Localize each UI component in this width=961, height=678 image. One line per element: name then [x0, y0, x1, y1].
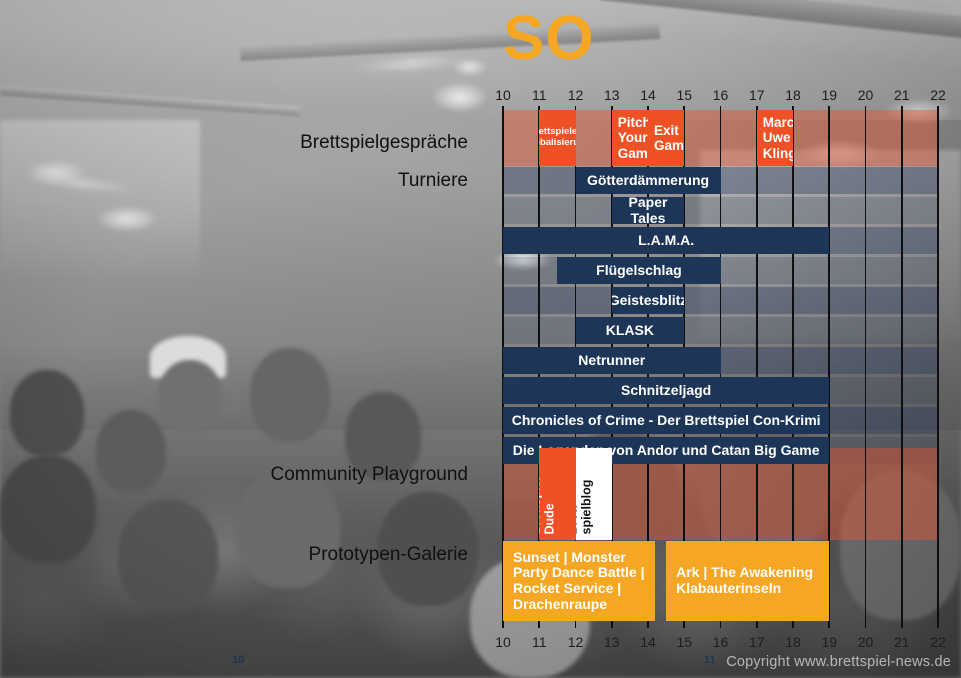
axis-tick-top: 12	[568, 87, 584, 103]
axis-tick-top: 13	[604, 87, 620, 103]
event-brett-spielblog[interactable]: Brett-spielblog	[576, 448, 612, 540]
row-label-community: Community Playground	[271, 464, 468, 486]
bar-label: KLASK	[600, 323, 660, 339]
bar-label: Brett-spielblog	[576, 479, 594, 534]
event-pitch-your-game[interactable]: Pitch Your Game	[612, 110, 648, 166]
bar-label: Paper Tales	[612, 197, 685, 224]
row-label-talks: Brettspielgespräche	[300, 132, 468, 154]
bar-label: Chronicles of Crime - Der Brettspiel Con…	[506, 413, 827, 429]
axis-tick-top: 19	[821, 87, 837, 103]
axis-tick-bottom: 14	[640, 634, 656, 650]
gridline-hour	[865, 106, 867, 628]
axis-tick-top: 15	[676, 87, 692, 103]
event-exit-games[interactable]: Exit Games	[648, 110, 684, 166]
axis-tick-bottom: 21	[894, 634, 910, 650]
gridline-hour	[901, 106, 903, 628]
event-l-a-m-a[interactable]: L.A.M.A.	[503, 227, 829, 254]
bar-label: Ark | The Awakening Klabauterinseln	[666, 565, 829, 596]
event-klask[interactable]: KLASK	[576, 317, 685, 344]
bar-label: Exit Games	[648, 123, 684, 153]
axis-tick-bottom: 22	[930, 634, 946, 650]
axis-tick-bottom: 10	[495, 634, 511, 650]
bar-label: Pitch Your Game	[612, 115, 648, 160]
row-label-prototypes: Prototypen-Galerie	[309, 544, 468, 566]
axis-tick-bottom: 12	[568, 634, 584, 650]
axis-tick-bottom: 13	[604, 634, 620, 650]
copyright-notice: Copyright www.brettspiel-news.de	[726, 654, 951, 670]
event-brettspiele-globalisierung[interactable]: Brettspiele & Globalisierung	[539, 110, 575, 166]
page-number-right: 11	[704, 654, 716, 666]
schedule-gantt-chart: 1010111112121313141415151616171718181919…	[0, 0, 961, 678]
bar-label: Götterdämmerung	[581, 173, 715, 189]
bar-label: Sunset | Monster Party Dance Battle | Ro…	[503, 550, 655, 613]
axis-tick-top: 14	[640, 87, 656, 103]
event-g-tterd-mmerung[interactable]: Götterdämmerung	[576, 167, 721, 194]
bar-label: Geistesblitz	[612, 293, 685, 309]
event-schnitzeljagd[interactable]: Schnitzeljagd	[503, 377, 829, 404]
bar-label: Marc-Uwe Kling	[757, 115, 793, 160]
axis-tick-top: 18	[785, 87, 801, 103]
bar-label: Brettspiele & Globalisierung	[539, 127, 575, 148]
event-ark-the-awakening-klabauterinseln[interactable]: Ark | The Awakening Klabauterinseln	[666, 541, 829, 621]
bar-label: BrettspielDude	[539, 476, 557, 534]
axis-tick-bottom: 18	[785, 634, 801, 650]
event-chronicles-of-crime-der-brettspiel-con-k[interactable]: Chronicles of Crime - Der Brettspiel Con…	[503, 407, 829, 434]
axis-tick-bottom: 17	[749, 634, 765, 650]
gridline-hour	[937, 106, 939, 628]
event-paper-tales[interactable]: Paper Tales	[612, 197, 685, 224]
event-fl-gelschlag[interactable]: Flügelschlag	[557, 257, 720, 284]
bar-label: L.A.M.A.	[632, 233, 700, 249]
bar-label: Schnitzeljagd	[615, 383, 717, 399]
axis-tick-top: 22	[930, 87, 946, 103]
axis-tick-top: 10	[495, 87, 511, 103]
axis-tick-top: 11	[532, 87, 547, 103]
event-sunset-monster-party-dance-battle-ro[interactable]: Sunset | Monster Party Dance Battle | Ro…	[503, 541, 655, 621]
bar-label: Flügelschlag	[590, 263, 688, 279]
event-geistesblitz[interactable]: Geistesblitz	[612, 287, 685, 314]
event-marc-uwe-kling[interactable]: Marc-Uwe Kling	[757, 110, 793, 166]
axis-tick-top: 16	[713, 87, 729, 103]
axis-tick-bottom: 16	[713, 634, 729, 650]
axis-tick-top: 21	[894, 87, 910, 103]
page-number-left: 10	[232, 654, 244, 666]
axis-tick-bottom: 11	[532, 634, 547, 650]
event-netrunner[interactable]: Netrunner	[503, 347, 721, 374]
axis-tick-bottom: 15	[676, 634, 692, 650]
axis-tick-bottom: 20	[858, 634, 874, 650]
axis-tick-top: 17	[749, 87, 765, 103]
axis-tick-top: 20	[858, 87, 874, 103]
row-label-tournaments: Turniere	[398, 170, 468, 192]
bar-label: Netrunner	[572, 353, 651, 369]
schedule-page: SO 1010111112121313141415151616171718181…	[0, 0, 961, 678]
axis-tick-bottom: 19	[821, 634, 837, 650]
event-brettspiel-dude[interactable]: BrettspielDude	[539, 448, 575, 540]
